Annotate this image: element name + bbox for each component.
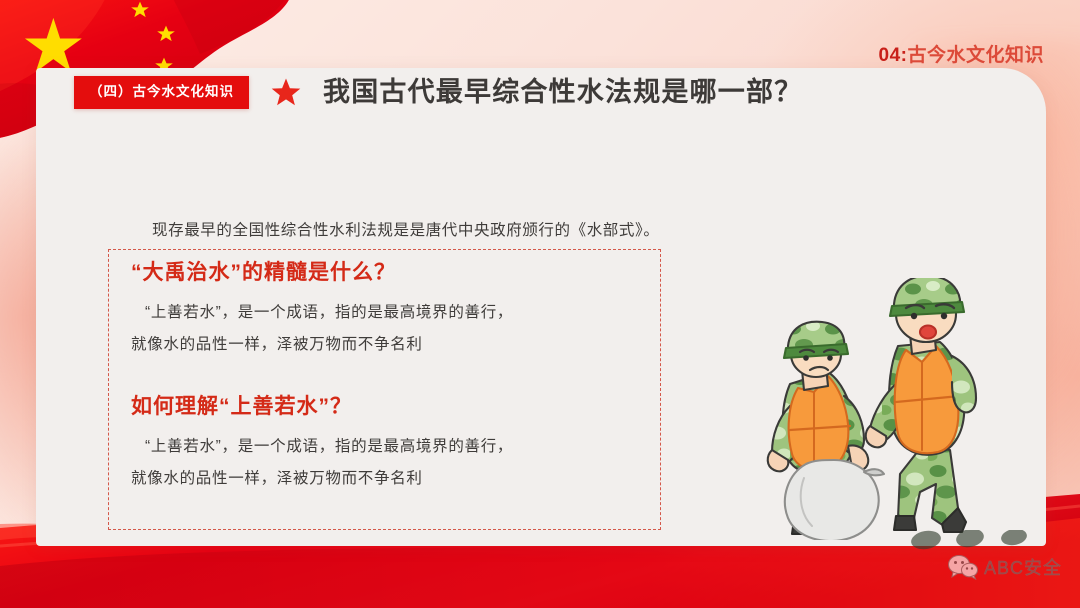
- qa-body-2: “上善若水”，是一个成语，指的是最高境界的善行， 就像水的品性一样，泽被万物而不…: [131, 431, 513, 495]
- qa-body-1: “上善若水”，是一个成语，指的是最高境界的善行， 就像水的品性一样，泽被万物而不…: [131, 297, 513, 361]
- star-icon: [271, 77, 301, 107]
- watermark-dots-decoration: [908, 530, 1058, 556]
- qa-item-2: 如何理解“上善若水”？ “上善若水”，是一个成语，指的是最高境界的善行， 就像水…: [131, 396, 513, 495]
- header-section-title: 古今水文化知识: [907, 45, 1044, 66]
- slide-canvas: 04:古今水文化知识 （四）古今水文化知识 我国古代最早综合性水法规是哪一部？ …: [0, 0, 1080, 608]
- qa-heading-1: “大禹治水”的精髓是什么？: [131, 262, 513, 283]
- qa-body-1-line-1: “上善若水”，是一个成语，指的是最高境界的善行，: [131, 297, 513, 329]
- header-section-number: 04:: [879, 45, 908, 66]
- qa-body-2-line-1: “上善若水”，是一个成语，指的是最高境界的善行，: [131, 431, 513, 463]
- qa-body-2-line-2: 就像水的品性一样，泽被万物而不争名利: [131, 463, 513, 495]
- qa-heading-2: 如何理解“上善若水”？: [131, 396, 513, 417]
- two-soldiers-carrying-sandbag-illustration: [744, 278, 980, 540]
- qa-body-1-line-2: 就像水的品性一样，泽被万物而不争名利: [131, 329, 513, 361]
- intro-paragraph: 现存最早的全国性综合性水利法规是是唐代中央政府颁行的《水部式》。: [152, 218, 659, 240]
- section-badge: （四）古今水文化知识: [74, 76, 249, 109]
- title-row: （四）古今水文化知识 我国古代最早综合性水法规是哪一部？: [74, 76, 802, 109]
- qa-item-1: “大禹治水”的精髓是什么？ “上善若水”，是一个成语，指的是最高境界的善行， 就…: [131, 262, 513, 361]
- page-title: 我国古代最早综合性水法规是哪一部？: [323, 79, 802, 106]
- qa-dashed-box: “大禹治水”的精髓是什么？ “上善若水”，是一个成语，指的是最高境界的善行， 就…: [108, 249, 661, 530]
- header-section-label: 04:古今水文化知识: [879, 40, 1044, 67]
